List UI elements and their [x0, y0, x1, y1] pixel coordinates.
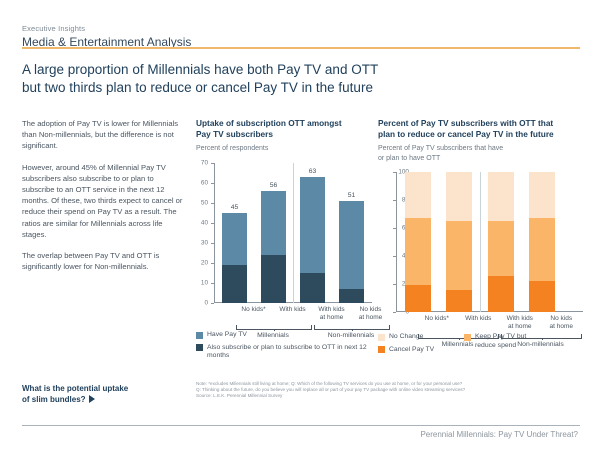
- cta-line-1: What is the potential uptake: [22, 383, 192, 394]
- y-axis-tick-label: 70: [201, 159, 208, 166]
- legend-item[interactable]: No Change: [378, 333, 464, 342]
- bar[interactable]: 45: [222, 213, 246, 303]
- y-axis-tick: [211, 203, 214, 204]
- y-axis-tick-label: 20: [201, 259, 208, 266]
- y-axis-tick: [211, 243, 214, 244]
- commentary-column: The adoption of Pay TV is lower for Mill…: [22, 118, 184, 282]
- bar-group: No kids*With kidsWith kidsat homeNo kids…: [397, 172, 581, 312]
- bar[interactable]: [529, 172, 555, 312]
- group-separator: [293, 163, 294, 303]
- chart-subtitle-line-2: or plan to have OTT: [378, 154, 583, 164]
- y-axis-tick: [211, 223, 214, 224]
- legend-label: No Change: [389, 333, 423, 342]
- bar-segment[interactable]: [261, 255, 285, 303]
- y-axis-tick: [211, 263, 214, 264]
- y-axis-tick-label: 50: [201, 199, 208, 206]
- chart-title-line-2: plan to reduce or cancel Pay TV in the f…: [378, 129, 583, 140]
- cta-slim-bundles[interactable]: What is the potential uptake of slim bun…: [22, 383, 192, 405]
- chart-subtitle-reduce-cancel: Percent of Pay TV subscribers that have …: [378, 144, 583, 163]
- x-axis-labels: No kids*With kidsWith kidsat homeNo kids…: [234, 303, 368, 325]
- y-axis-tick: [211, 303, 214, 304]
- header-rule: [22, 47, 580, 49]
- bar-segment[interactable]: [339, 201, 363, 289]
- bar-segment[interactable]: [488, 276, 514, 312]
- commentary-paragraph-1: The adoption of Pay TV is lower for Mill…: [22, 118, 184, 152]
- headline-line-1: A large proportion of Millennials have b…: [22, 61, 562, 79]
- y-axis-tick: [211, 283, 214, 284]
- bar-segment[interactable]: [529, 172, 555, 218]
- bar-value-label: 63: [300, 168, 324, 175]
- bar-segment[interactable]: [339, 289, 363, 303]
- play-triangle-icon: [89, 395, 95, 403]
- chart-title-line-2: Pay TV subscribers: [196, 129, 372, 140]
- x-axis-tick-label: With kids: [458, 315, 500, 323]
- legend-item[interactable]: Also subscribe or plan to subscribe to O…: [196, 344, 372, 361]
- x-axis-tick-label: With kids: [273, 306, 312, 314]
- bar-segment[interactable]: [488, 172, 514, 221]
- footer-text: Perennial Millennials: Pay TV Under Thre…: [420, 430, 578, 439]
- y-axis-tick: [393, 312, 396, 313]
- bar-segment[interactable]: [446, 221, 472, 290]
- bar[interactable]: [446, 172, 472, 312]
- bar-segment[interactable]: [405, 172, 431, 218]
- chart-panel-uptake: Uptake of subscription OTT amongst Pay T…: [196, 118, 372, 303]
- bar-value-label: 45: [222, 204, 246, 211]
- group-bracket: [314, 325, 390, 330]
- group-bracket: [236, 325, 312, 330]
- chart-title-reduce-cancel: Percent of Pay TV subscribers with OTT t…: [378, 118, 583, 140]
- note-line-3: Source: L.E.K. Perennial Millennial Surv…: [196, 393, 586, 399]
- y-axis-tick-label: 40: [201, 219, 208, 226]
- bar-segment[interactable]: [446, 172, 472, 221]
- legend-label: Cancel Pay TV: [389, 346, 434, 355]
- bar[interactable]: [405, 172, 431, 312]
- x-axis-tick-label: No kids*: [234, 306, 273, 314]
- chart-subtitle-line-1: Percent of Pay TV subscribers that have: [378, 144, 583, 154]
- bar-segment[interactable]: [446, 290, 472, 312]
- footer-rule: [22, 425, 580, 426]
- chart-title-line-1: Percent of Pay TV subscribers with OTT t…: [378, 118, 583, 129]
- bar-segment[interactable]: [405, 218, 431, 285]
- y-axis-tick: [393, 200, 396, 201]
- bar-group: 45566351No kids*With kidsWith kidsat hom…: [215, 163, 370, 303]
- y-axis-tick-label: 0: [204, 299, 208, 306]
- headline-line-2: but two thirds plan to reduce or cancel …: [22, 79, 562, 97]
- x-axis-tick-label: No kids*: [416, 315, 458, 323]
- legend-swatch: [196, 332, 203, 339]
- y-axis-tick: [211, 163, 214, 164]
- bar-segment[interactable]: [261, 191, 285, 255]
- group-separator: [480, 172, 481, 312]
- bar[interactable]: [488, 172, 514, 312]
- bar-segment[interactable]: [300, 177, 324, 273]
- chart-plot-uptake: 01020304050607045566351No kids*With kids…: [196, 163, 372, 303]
- legend-swatch: [378, 334, 385, 341]
- bar[interactable]: 51: [339, 201, 363, 303]
- y-axis-tick: [393, 284, 396, 285]
- y-axis-tick: [211, 183, 214, 184]
- commentary-paragraph-3: The overlap between Pay TV and OTT is si…: [22, 250, 184, 272]
- bar-value-label: 56: [261, 182, 285, 189]
- bar-segment[interactable]: [529, 218, 555, 281]
- y-axis-tick: [393, 172, 396, 173]
- bar-segment[interactable]: [405, 285, 431, 312]
- cta-line-2: of slim bundles?: [22, 395, 86, 404]
- chart-subtitle-uptake: Percent of respondents: [196, 144, 372, 154]
- bar-segment[interactable]: [300, 273, 324, 303]
- legend-swatch: [464, 334, 471, 341]
- page-title: A large proportion of Millennials have b…: [22, 61, 562, 97]
- legend-label: Have Pay TV: [207, 331, 247, 340]
- bar[interactable]: 56: [261, 191, 285, 303]
- header-eyebrow: Executive Insights: [22, 24, 580, 34]
- x-axis-tick-label: No kidsat home: [541, 315, 583, 331]
- bar[interactable]: 63: [300, 177, 324, 303]
- bar-segment[interactable]: [488, 221, 514, 276]
- cta-line-2-wrap: of slim bundles?: [22, 394, 192, 405]
- legend-label: Keep Pay TV butreduce spend: [475, 333, 526, 350]
- chart-title-line-1: Uptake of subscription OTT amongst: [196, 118, 372, 129]
- y-axis-tick-label: 60: [201, 179, 208, 186]
- slide-page: Executive Insights Media & Entertainment…: [0, 0, 600, 463]
- bar-segment[interactable]: [222, 265, 246, 303]
- x-axis-labels: No kids*With kidsWith kidsat homeNo kids…: [416, 312, 579, 334]
- commentary-paragraph-2: However, around 45% of Millennial Pay TV…: [22, 162, 184, 240]
- legend-item[interactable]: Have Pay TV: [196, 331, 372, 340]
- y-axis-tick: [393, 256, 396, 257]
- legend-swatch: [196, 344, 203, 351]
- bar-segment[interactable]: [222, 213, 246, 265]
- chart-plot-reduce-cancel: 020406080100No kids*With kidsWith kidsat…: [378, 172, 583, 312]
- bar-value-label: 51: [339, 192, 363, 199]
- chart-footnote: Note: *excludes Millennials still living…: [196, 381, 586, 400]
- legend-item[interactable]: Cancel Pay TV: [378, 346, 464, 355]
- legend-item[interactable]: Keep Pay TV butreduce spend: [464, 333, 526, 350]
- legend-label: Also subscribe or plan to subscribe to O…: [207, 344, 372, 361]
- x-axis-tick-label: With kidsat home: [499, 315, 541, 331]
- chart-legend-uptake: Have Pay TVAlso subscribe or plan to sub…: [196, 331, 372, 365]
- y-axis-tick-label: 30: [201, 239, 208, 246]
- legend-swatch: [378, 346, 385, 353]
- chart-legend-reduce-cancel: No ChangeCancel Pay TVKeep Pay TV butred…: [378, 333, 578, 358]
- x-axis-tick-label: With kidsat home: [312, 306, 351, 322]
- y-axis-tick-label: 10: [201, 279, 208, 286]
- chart-title-uptake: Uptake of subscription OTT amongst Pay T…: [196, 118, 372, 140]
- bar-segment[interactable]: [529, 281, 555, 312]
- y-axis-tick: [393, 228, 396, 229]
- chart-panel-reduce-cancel: Percent of Pay TV subscribers with OTT t…: [378, 118, 583, 312]
